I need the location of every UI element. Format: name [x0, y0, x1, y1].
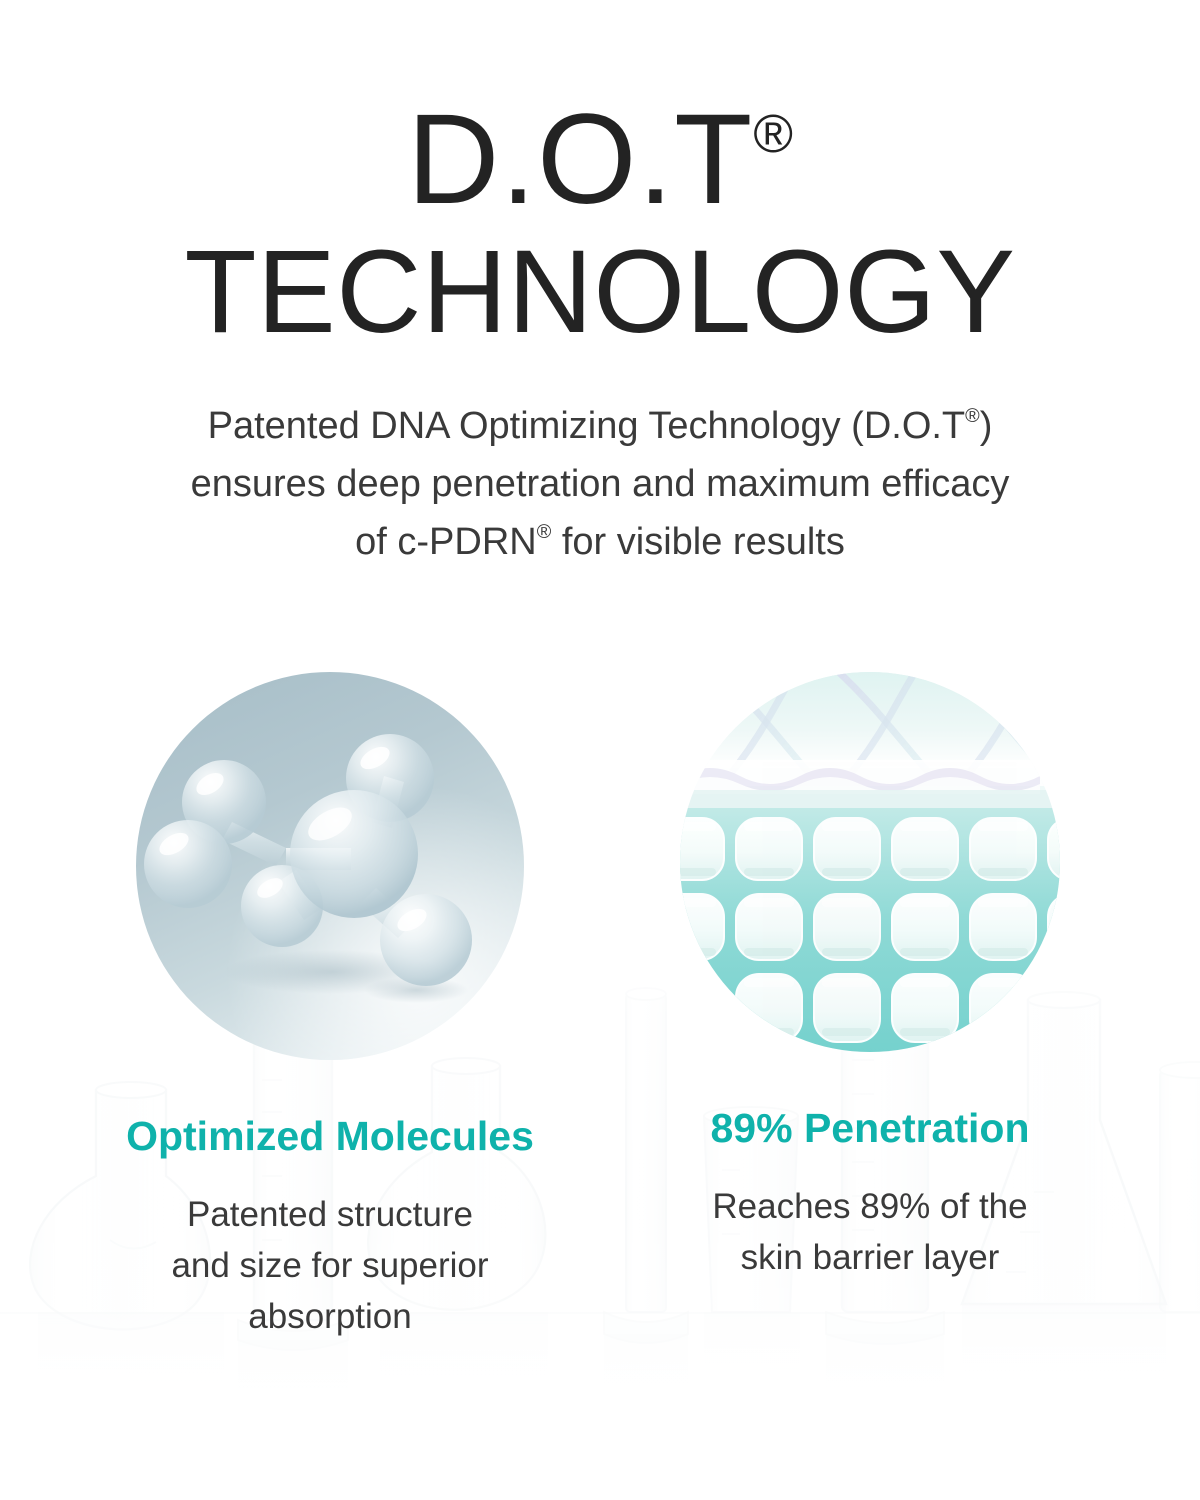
feature-body-line: skin barrier layer: [712, 1232, 1027, 1283]
feature-body-line: Reaches 89% of the: [712, 1181, 1027, 1232]
subtitle-line-2: ensures deep penetration and maximum eff…: [60, 456, 1140, 514]
feature-body-optimized-molecules: Patented structure and size for superior…: [171, 1189, 488, 1342]
feature-body-line: absorption: [171, 1291, 488, 1342]
dot-technology-infographic: D.O.T® TECHNOLOGY Patented DNA Optimizin…: [0, 0, 1200, 1500]
molecule-illustration: [136, 672, 524, 1060]
registered-trademark-icon: ®: [537, 521, 552, 543]
feature-body-line: and size for superior: [171, 1240, 488, 1291]
page-title-block: D.O.T® TECHNOLOGY: [0, 96, 1200, 355]
feature-heading-penetration: 89% Penetration: [711, 1106, 1030, 1151]
subtitle-line-3-before: of c-PDRN: [355, 521, 537, 563]
skin-barrier-lattice-illustration: [680, 672, 1060, 1052]
feature-heading-optimized-molecules: Optimized Molecules: [126, 1114, 534, 1159]
subtitle-line-1-before: Patented DNA Optimizing Technology (D.O.…: [208, 405, 966, 447]
background-bottom-fade: [0, 1350, 1200, 1500]
feature-penetration: 89% Penetration Reaches 89% of the skin …: [620, 672, 1120, 1283]
subtitle-line-3: of c-PDRN® for visible results: [60, 514, 1140, 572]
registered-trademark-icon: ®: [753, 104, 793, 164]
feature-body-penetration: Reaches 89% of the skin barrier layer: [712, 1181, 1027, 1283]
registered-trademark-icon: ®: [965, 405, 980, 427]
skin-barrier-penetration-image: [680, 672, 1060, 1052]
feature-optimized-molecules: Optimized Molecules Patented structure a…: [80, 672, 580, 1342]
page-title-secondary: TECHNOLOGY: [0, 230, 1200, 355]
page-title-primary-text: D.O.T: [407, 88, 753, 231]
subtitle-line-1: Patented DNA Optimizing Technology (D.O.…: [60, 398, 1140, 456]
optimized-molecules-image: [136, 672, 524, 1060]
subtitle-line-3-after: for visible results: [551, 521, 845, 563]
feature-columns: Optimized Molecules Patented structure a…: [0, 672, 1200, 1342]
page-title-primary: D.O.T®: [0, 96, 1200, 224]
feature-body-line: Patented structure: [171, 1189, 488, 1240]
subtitle-line-1-after: ): [980, 405, 993, 447]
page-subtitle: Patented DNA Optimizing Technology (D.O.…: [60, 398, 1140, 571]
